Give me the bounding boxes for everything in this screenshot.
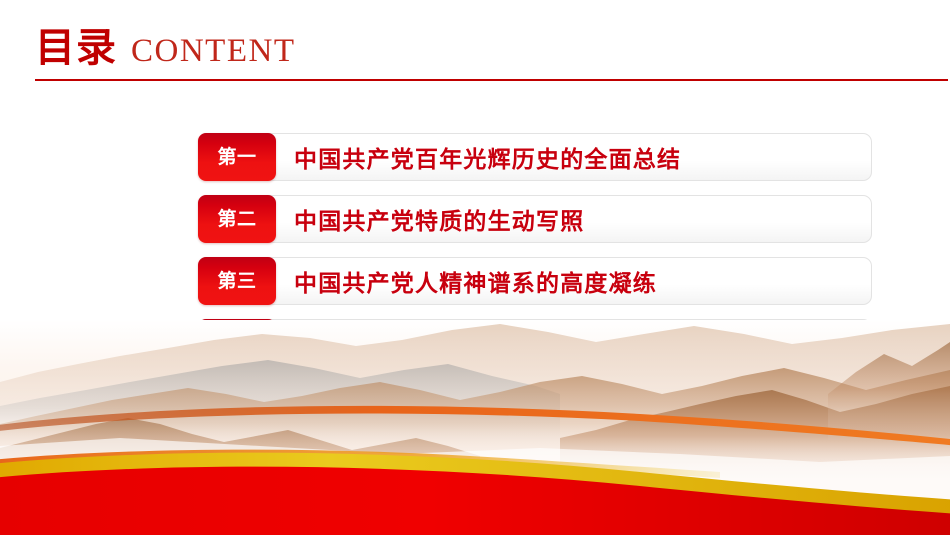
toc-badge-label: 第三 (217, 272, 256, 291)
slide-root: 目录 CONTENT 第一 中国共产党百年光辉历史的全面总结 第二 中国共产党特… (0, 0, 950, 535)
toc-badge-2[interactable]: 第二 (198, 195, 276, 243)
page-title: 目录 CONTENT (35, 28, 295, 68)
title-underline-divider (35, 79, 948, 81)
toc-badge-label: 第二 (217, 210, 256, 229)
toc-badge-3[interactable]: 第三 (198, 257, 276, 305)
mountain-waves-graphic (0, 320, 950, 535)
toc-title-2: 中国共产党特质的生动写照 (294, 195, 584, 243)
list-item[interactable]: 第三 中国共产党人精神谱系的高度凝练 (198, 257, 872, 305)
list-item[interactable]: 第一 中国共产党百年光辉历史的全面总结 (198, 133, 872, 181)
page-title-en: CONTENT (131, 35, 295, 68)
page-title-cn: 目录 (35, 28, 117, 68)
list-item[interactable]: 第二 中国共产党特质的生动写照 (198, 195, 872, 243)
toc-title-3: 中国共产党人精神谱系的高度凝练 (294, 257, 657, 305)
slide-header: 目录 CONTENT (0, 0, 950, 86)
toc-badge-1[interactable]: 第一 (198, 133, 276, 181)
toc-title-1: 中国共产党百年光辉历史的全面总结 (294, 133, 681, 181)
toc-badge-label: 第一 (217, 148, 256, 167)
bottom-decoration-art (0, 320, 950, 535)
